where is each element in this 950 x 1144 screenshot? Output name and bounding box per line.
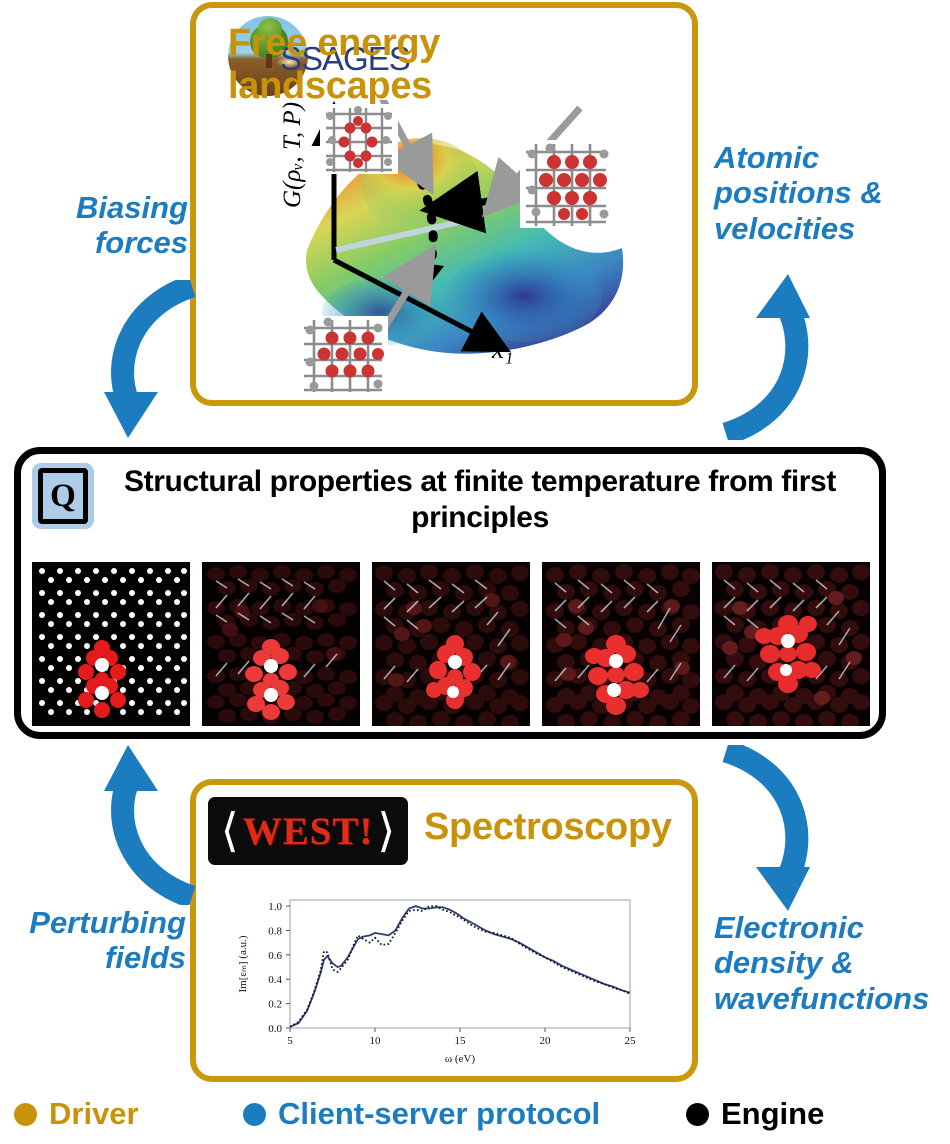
label-perturbing-fields: Perturbing fields [0,905,186,976]
label-atomic-positions: Atomic positions & velocities [714,140,950,246]
free-energy-panel-title: Free energy landscapes [228,22,478,107]
svg-text:15: 15 [455,1035,467,1047]
fe-z-axis-label: G(ρᵥ, T, P) [279,102,306,208]
legend-dot-engine [686,1103,709,1126]
graphene-inset-top-left [320,104,398,174]
label-electronic-density: Electronic density & wavefunctions [714,910,950,1016]
graphene-inset-top-right [520,140,612,228]
spectrum-x-axis-label: ω (eV) [445,1053,475,1065]
svg-text:0.0: 0.0 [268,1023,282,1035]
svg-text:5: 5 [287,1035,293,1047]
structural-properties-title: Structural properties at finite temperat… [110,464,850,536]
legend: Driver Client-server protocol Engine [0,1092,950,1144]
md-snapshot-4 [542,562,700,726]
electronic-density-arrow [700,745,820,915]
legend-item-driver: Driver [14,1096,139,1132]
spectrum-y-axis-label: Im[εₘ] (a.u.) [237,935,249,992]
svg-text:25: 25 [625,1035,637,1047]
svg-text:20: 20 [540,1035,552,1047]
svg-text:10: 10 [370,1035,382,1047]
legend-label-driver: Driver [49,1096,139,1132]
legend-item-engine: Engine [686,1096,824,1132]
legend-dot-driver [14,1103,37,1126]
svg-text:1.0: 1.0 [268,901,282,913]
legend-label-protocol: Client-server protocol [278,1096,600,1132]
md-snapshot-3 [372,562,530,726]
md-snapshot-1 [32,562,190,726]
legend-dot-protocol [243,1103,266,1126]
west-logo: ⟨ WEST! ⟩ [208,797,408,865]
q-logo-frame: Q [38,468,88,524]
perturbing-fields-arrow [96,745,206,905]
q-glyph: Q [50,480,76,513]
west-right-bracket: ⟩ [377,808,395,854]
west-wordmark: WEST! [243,812,374,851]
atomic-positions-arrow [700,270,820,440]
svg-text:0.6: 0.6 [268,950,282,962]
spectrum-chart: 510152025 0.00.20.40.60.81.0 ω (eV) Im[ε… [228,888,648,1068]
label-biasing-forces: Biasing forces [18,190,188,261]
md-snapshot-2 [202,562,360,726]
md-snapshot-5 [712,562,870,726]
fe-x1-axis-label: x₁ [491,334,513,364]
svg-text:0.4: 0.4 [268,974,282,986]
svg-text:0.8: 0.8 [268,925,282,937]
spectroscopy-panel-title: Spectroscopy [424,806,694,849]
quantum-espresso-logo: Q [32,463,94,529]
legend-label-engine: Engine [721,1096,824,1132]
legend-item-client-server-protocol: Client-server protocol [243,1096,600,1132]
west-left-bracket: ⟨ [221,808,239,854]
svg-text:0.2: 0.2 [268,999,282,1011]
md-snapshot-filmstrip [32,562,870,726]
biasing-forces-arrow [96,280,206,440]
graphene-inset-bottom-left [298,316,388,394]
